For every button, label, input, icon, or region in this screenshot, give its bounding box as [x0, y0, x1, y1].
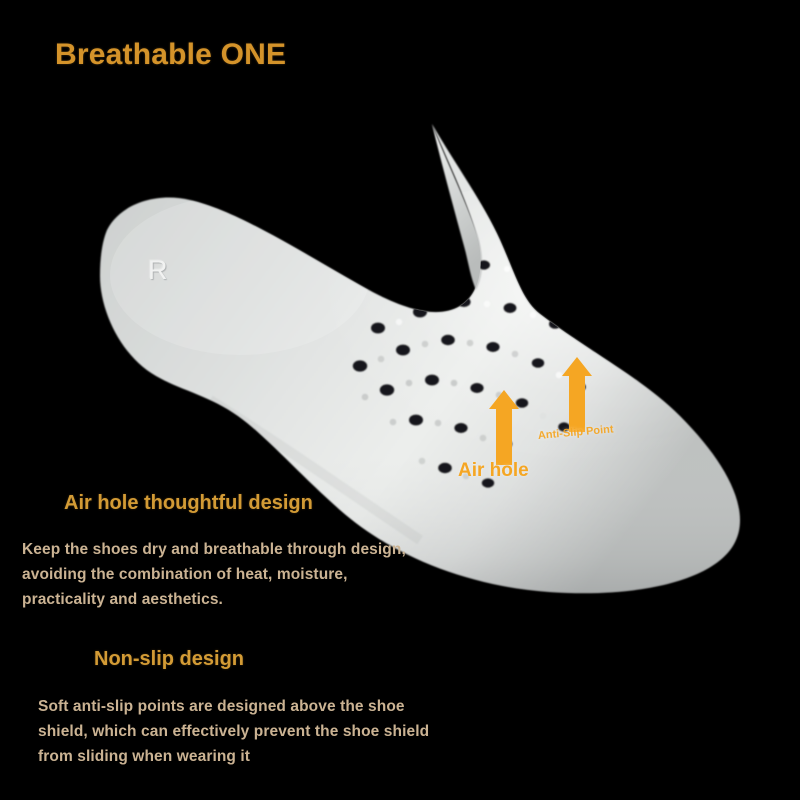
page-title: Breathable ONE [55, 38, 286, 72]
feature-heading-non-slip-design: Non-slip design [94, 648, 244, 671]
feature-body-air-hole-design: Keep the shoes dry and breathable throug… [22, 537, 422, 612]
arrow-shaft [569, 374, 585, 432]
shoe-shield-svg [60, 100, 800, 600]
shoe-shield-illustration: R Air hole Anti-Slip Point [60, 100, 800, 600]
product-promo-page: Breathable ONE [0, 0, 800, 800]
right-side-marking: R [148, 255, 168, 286]
feature-heading-air-hole-design: Air hole thoughtful design [64, 492, 313, 515]
callout-label-air-hole: Air hole [458, 460, 529, 482]
feature-body-non-slip-design: Soft anti-slip points are designed above… [38, 694, 438, 769]
product-photo: R Air hole Anti-Slip Point [60, 100, 800, 600]
arrow-shaft [496, 407, 512, 465]
